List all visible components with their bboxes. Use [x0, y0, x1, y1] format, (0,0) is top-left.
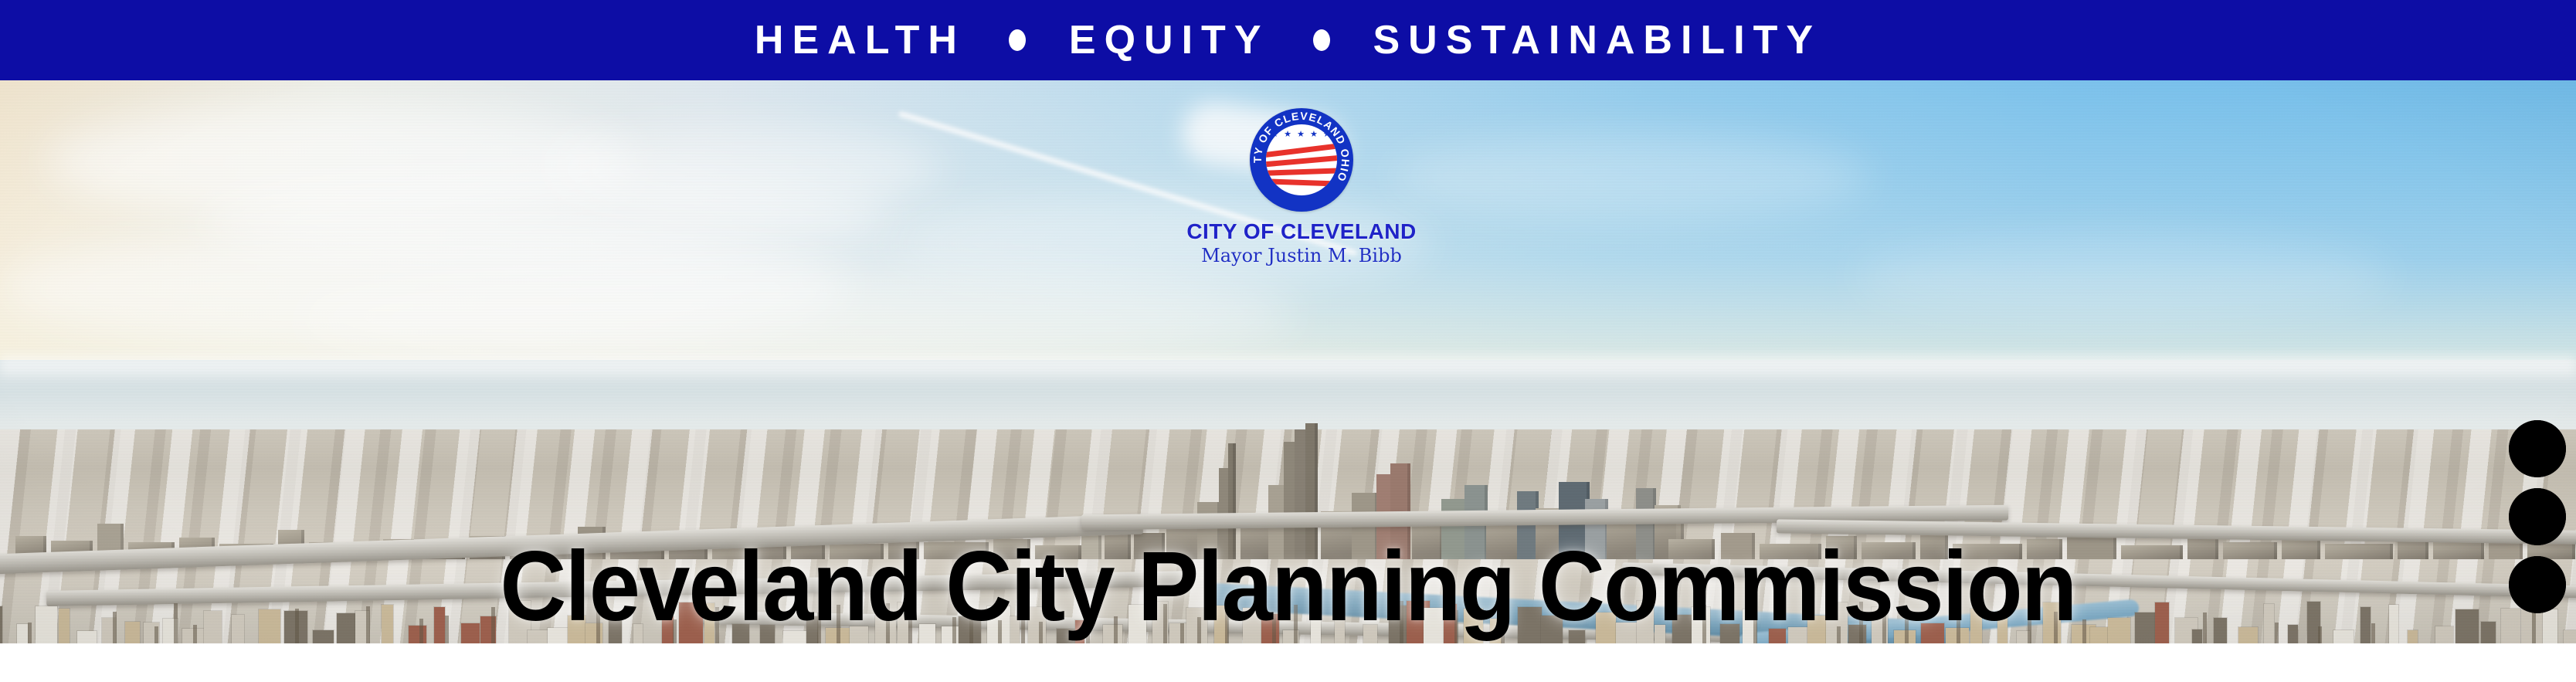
seal-stars: ★ ★ ★ ★ ★ — [1266, 131, 1337, 139]
facebook-icon[interactable] — [2509, 556, 2566, 613]
seal-inner-disc: ★ ★ ★ ★ ★ — [1266, 124, 1337, 195]
social-links — [2508, 420, 2567, 613]
house — [36, 606, 57, 643]
instagram-icon[interactable] — [2509, 488, 2566, 545]
tagline-word-sustainability: SUSTAINABILITY — [1373, 20, 1822, 60]
tagline-word-health: HEALTH — [755, 20, 966, 60]
horizon-haze — [0, 355, 2576, 375]
city-name-label: CITY OF CLEVELAND — [1151, 220, 1452, 243]
youtube-glyph-icon — [2509, 420, 2566, 477]
cloud — [541, 127, 942, 212]
youtube-icon[interactable] — [2509, 420, 2566, 477]
instagram-glyph-icon — [2509, 488, 2566, 545]
house — [59, 609, 70, 643]
house — [2501, 609, 2520, 643]
cloud — [1854, 235, 2394, 320]
facebook-glyph-icon — [2509, 556, 2566, 613]
house — [2564, 630, 2576, 643]
house — [17, 624, 28, 643]
page-title: Cleveland City Planning Commission — [90, 538, 2486, 636]
city-logo-block: CITY OF CLEVELAND OHIO ★ ★ ★ ★ ★ CITY OF… — [1151, 108, 1452, 266]
tree — [2532, 609, 2536, 643]
tagline-word-equity: EQUITY — [1069, 20, 1270, 60]
seal-flag-icon — [1266, 148, 1337, 192]
tagline-banner: HEALTH EQUITY SUSTAINABILITY — [0, 0, 2576, 80]
mayor-name-label: Mayor Justin M. Bibb — [1151, 246, 1452, 266]
house — [0, 606, 2, 643]
house — [2543, 609, 2557, 643]
tree — [28, 623, 32, 643]
tagline-separator-dot-1 — [1009, 29, 1026, 51]
cloud — [294, 266, 1298, 366]
city-seal-icon: CITY OF CLEVELAND OHIO ★ ★ ★ ★ ★ — [1250, 108, 1353, 212]
cloud — [1390, 134, 1869, 219]
tagline-separator-dot-2 — [1313, 29, 1330, 51]
page-root: HEALTH EQUITY SUSTAINABILITY — [0, 0, 2576, 682]
hero-photo: CITY OF CLEVELAND OHIO ★ ★ ★ ★ ★ CITY OF… — [0, 80, 2576, 643]
